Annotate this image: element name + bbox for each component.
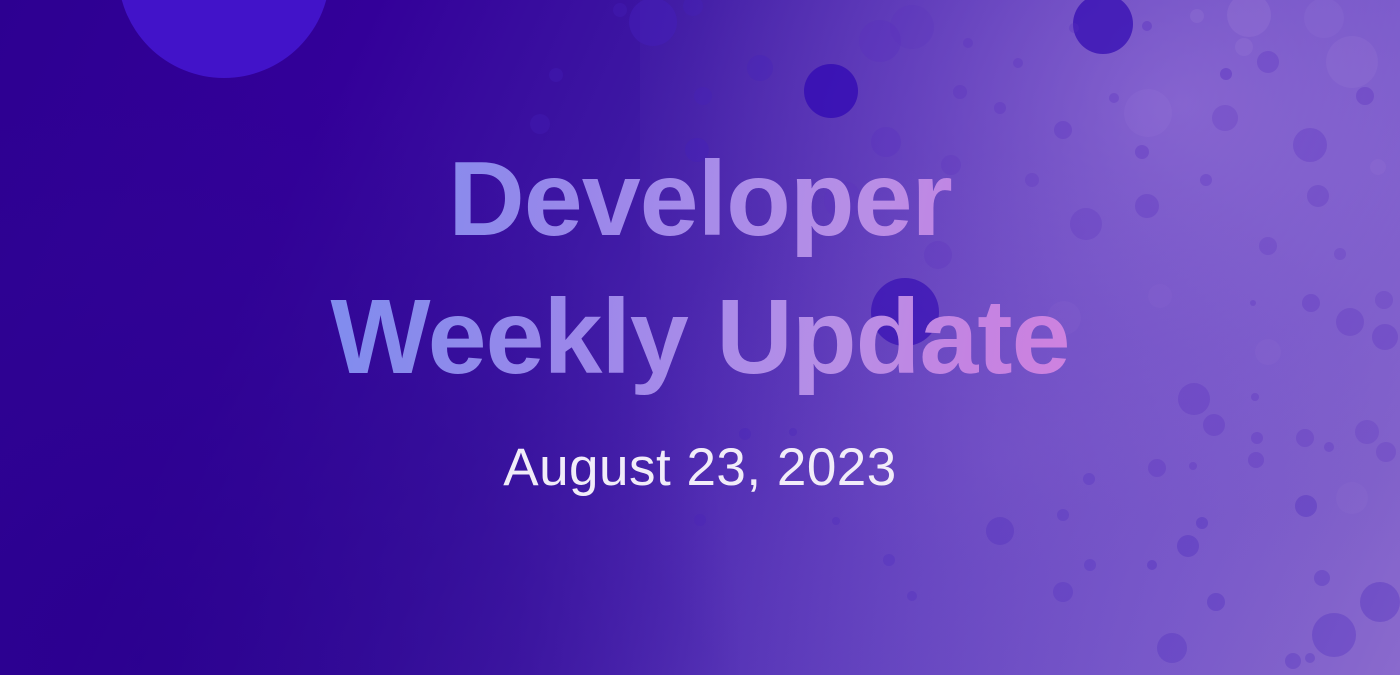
slide-content: Developer Weekly Update August 23, 2023 [0, 0, 1400, 675]
title-slide: Developer Weekly Update August 23, 2023 [0, 0, 1400, 675]
title-line-2: Weekly Update [330, 269, 1069, 407]
title-line-1: Developer [330, 131, 1069, 269]
slide-date: August 23, 2023 [330, 437, 1069, 498]
page-title: Developer Weekly Update [330, 131, 1069, 407]
